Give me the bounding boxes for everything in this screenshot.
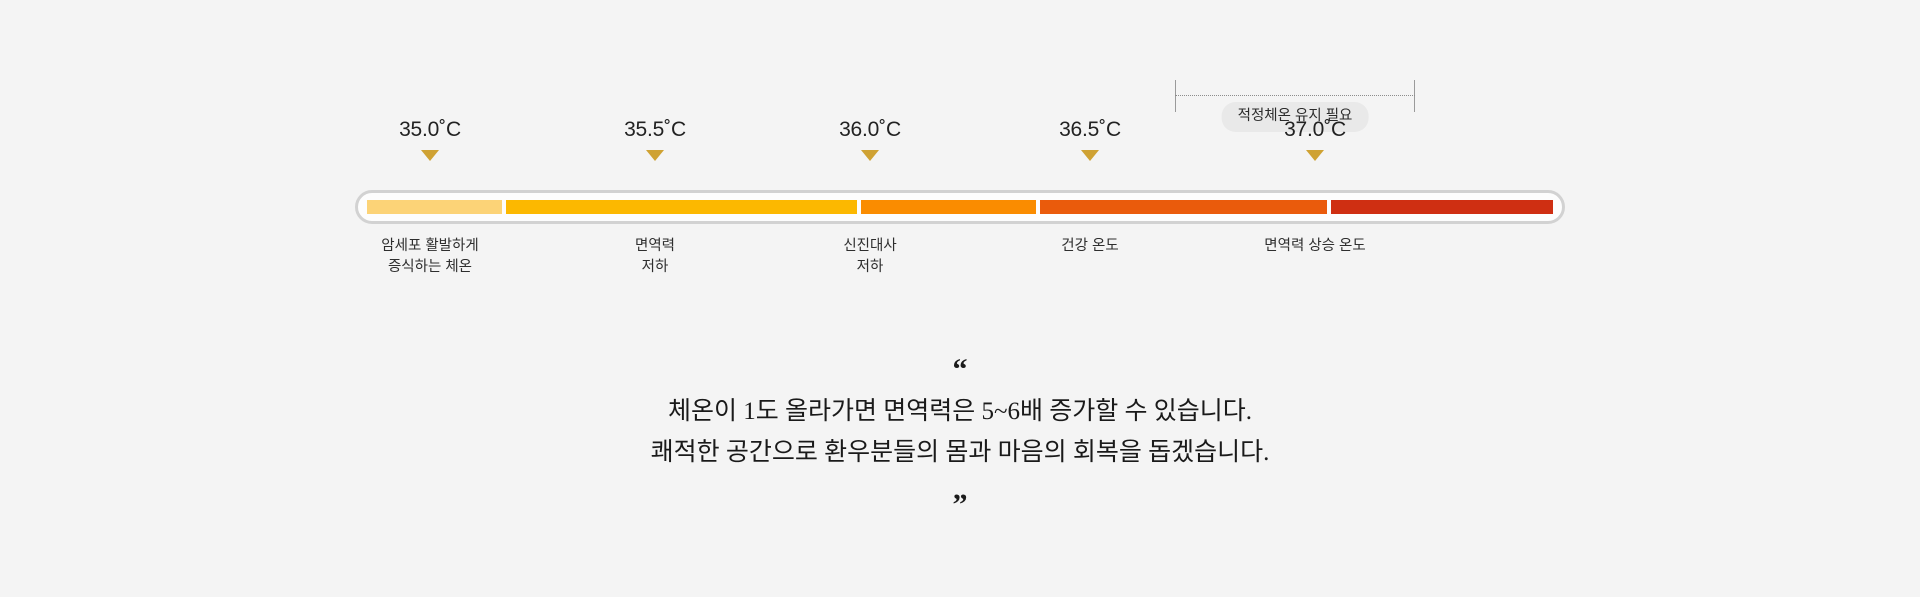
caret-down-icon bbox=[1306, 150, 1324, 161]
sublabel-35-5: 면역력 저하 bbox=[540, 236, 770, 278]
temperature-value: 35.0˚C bbox=[350, 118, 510, 142]
bracket-tick-left bbox=[1175, 80, 1176, 112]
caret-down-icon bbox=[1081, 150, 1099, 161]
temperature-marker-36-5: 36.5˚C bbox=[1010, 118, 1170, 161]
quote-line-2: 쾌적한 공간으로 환우분들의 몸과 마음의 회복을 돕겠습니다. bbox=[0, 432, 1920, 473]
bracket-tick-right bbox=[1414, 80, 1415, 112]
sublabel-36-0: 신진대사 저하 bbox=[755, 236, 985, 278]
bar-segment-1 bbox=[367, 200, 502, 214]
temperature-value: 37.0˚C bbox=[1235, 118, 1395, 142]
temperature-gradient-bar bbox=[355, 190, 1565, 224]
caret-down-icon bbox=[421, 150, 439, 161]
quote-text: 체온이 1도 올라가면 면역력은 5~6배 증가할 수 있습니다. 쾌적한 공간… bbox=[0, 391, 1920, 474]
temperature-value: 36.0˚C bbox=[790, 118, 950, 142]
temperature-marker-35-5: 35.5˚C bbox=[575, 118, 735, 161]
bracket-dotted-line bbox=[1175, 95, 1415, 96]
temperature-marker-36-0: 36.0˚C bbox=[790, 118, 950, 161]
quote-close-mark: ” bbox=[0, 490, 1920, 512]
bar-segment-2 bbox=[506, 200, 857, 214]
sublabel-36-5: 건강 온도 bbox=[975, 236, 1205, 257]
temperature-marker-35-0: 35.0˚C bbox=[350, 118, 510, 161]
temperature-value: 36.5˚C bbox=[1010, 118, 1170, 142]
temperature-value: 35.5˚C bbox=[575, 118, 735, 142]
caret-down-icon bbox=[646, 150, 664, 161]
bar-segment-5 bbox=[1331, 200, 1553, 214]
quote-line-1: 체온이 1도 올라가면 면역력은 5~6배 증가할 수 있습니다. bbox=[0, 391, 1920, 432]
quote-open-mark: “ bbox=[0, 355, 1920, 377]
bar-track bbox=[367, 200, 1553, 214]
caret-down-icon bbox=[861, 150, 879, 161]
bar-segment-4 bbox=[1040, 200, 1327, 214]
sublabel-37-0: 면역력 상승 온도 bbox=[1200, 236, 1430, 257]
sublabel-35-0: 암세포 활발하게 증식하는 체온 bbox=[315, 236, 545, 278]
bar-segment-3 bbox=[861, 200, 1037, 214]
body-temperature-scale: 적정체온 유지 필요 35.0˚C 35.5˚C 36.0˚C 36.5˚C 3… bbox=[355, 80, 1565, 260]
temperature-marker-37-0: 37.0˚C bbox=[1235, 118, 1395, 161]
quote-block: “ 체온이 1도 올라가면 면역력은 5~6배 증가할 수 있습니다. 쾌적한 … bbox=[0, 355, 1920, 512]
